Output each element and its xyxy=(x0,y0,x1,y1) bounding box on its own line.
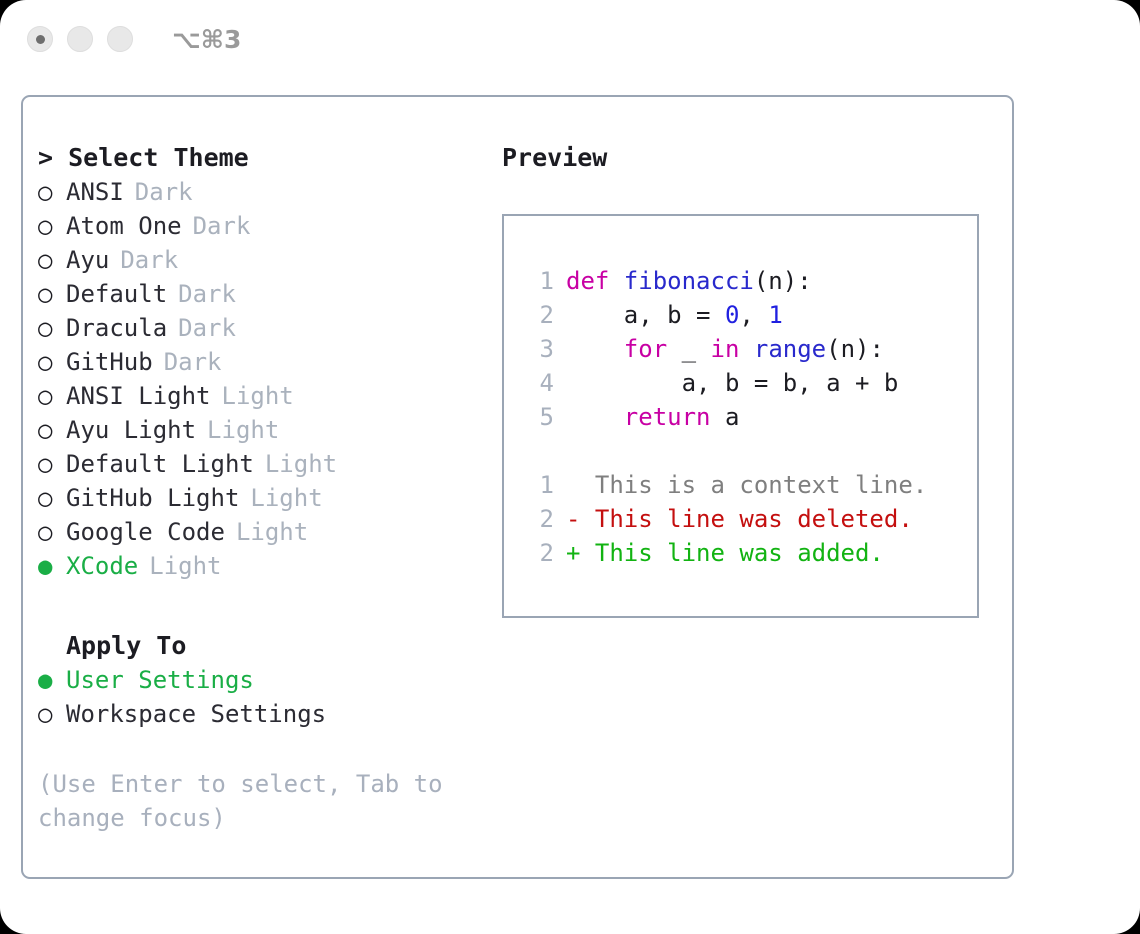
code-token: _ xyxy=(667,335,710,363)
diff-line: 2+ This line was added. xyxy=(520,536,977,570)
code-line-number: 1 xyxy=(520,264,554,298)
dialog-panel: > Select Theme ○ANSIDark○Atom OneDark○Ay… xyxy=(21,95,1014,879)
app-window: ⌥⌘3 > Select Theme ○ANSIDark○Atom OneDar… xyxy=(0,0,1140,934)
code-token: a, b = b, a + b xyxy=(566,369,898,397)
radio-unselected-icon: ○ xyxy=(38,243,66,277)
radio-unselected-icon: ○ xyxy=(38,345,66,379)
theme-variant-tag: Dark xyxy=(164,345,222,379)
theme-name: GitHub Light xyxy=(66,481,239,515)
code-line: 2 a, b = 0, 1 xyxy=(520,298,977,332)
code-sample: 1def fibonacci(n):2 a, b = 0, 13 for _ i… xyxy=(520,264,977,434)
theme-variant-tag: Dark xyxy=(120,243,178,277)
code-line-content: def fibonacci(n): xyxy=(566,264,812,298)
preview-spacer xyxy=(520,434,977,468)
theme-variant-tag: Light xyxy=(149,549,221,583)
title-bar: ⌥⌘3 xyxy=(0,0,1140,78)
theme-list-item[interactable]: ●XCodeLight xyxy=(38,549,478,583)
code-token: (n): xyxy=(826,335,884,363)
code-line: 1def fibonacci(n): xyxy=(520,264,977,298)
code-line-content: for _ in range(n): xyxy=(566,332,884,366)
select-theme-heading: > Select Theme xyxy=(38,141,478,175)
theme-list-item[interactable]: ○DefaultDark xyxy=(38,277,478,311)
theme-name: XCode xyxy=(66,549,138,583)
code-token xyxy=(566,335,624,363)
code-token: in xyxy=(711,335,740,363)
code-line-number: 3 xyxy=(520,332,554,366)
radio-unselected-icon: ○ xyxy=(38,175,66,209)
code-token xyxy=(566,403,624,431)
code-token: 0 xyxy=(725,301,739,329)
theme-name: Atom One xyxy=(66,209,182,243)
radio-selected-icon: ● xyxy=(38,549,66,583)
theme-list-item[interactable]: ○DraculaDark xyxy=(38,311,478,345)
radio-unselected-icon: ○ xyxy=(38,447,66,481)
theme-name: Default Light xyxy=(66,447,254,481)
apply-to-label: Workspace Settings xyxy=(66,697,326,731)
theme-variant-tag: Light xyxy=(222,379,294,413)
code-line-content: a, b = 0, 1 xyxy=(566,298,783,332)
code-line-number: 4 xyxy=(520,366,554,400)
code-token xyxy=(739,335,753,363)
code-token: for xyxy=(624,335,667,363)
theme-variant-tag: Light xyxy=(236,515,308,549)
theme-list-item[interactable]: ○Default LightLight xyxy=(38,447,478,481)
theme-list-item[interactable]: ○GitHub LightLight xyxy=(38,481,478,515)
diff-line: 1 This is a context line. xyxy=(520,468,977,502)
apply-to-section: Apply To ●User Settings○Workspace Settin… xyxy=(38,629,478,731)
theme-name: Ayu Light xyxy=(66,413,196,447)
diff-line-number: 1 xyxy=(520,468,554,502)
theme-list-item[interactable]: ○ANSIDark xyxy=(38,175,478,209)
preview-box: 1def fibonacci(n):2 a, b = 0, 13 for _ i… xyxy=(502,214,979,618)
code-token: , xyxy=(739,301,768,329)
theme-list-item[interactable]: ○ANSI LightLight xyxy=(38,379,478,413)
theme-list-item[interactable]: ○Ayu LightLight xyxy=(38,413,478,447)
keyboard-shortcut-label: ⌥⌘3 xyxy=(172,25,241,54)
theme-name: ANSI Light xyxy=(66,379,211,413)
radio-unselected-icon: ○ xyxy=(38,209,66,243)
theme-list: ○ANSIDark○Atom OneDark○AyuDark○DefaultDa… xyxy=(38,175,478,583)
keyboard-hint-text: (Use Enter to select, Tab to change focu… xyxy=(38,767,448,835)
code-line-content: a, b = b, a + b xyxy=(566,366,898,400)
theme-name: Default xyxy=(66,277,167,311)
diff-line-content: - This line was deleted. xyxy=(566,502,913,536)
radio-unselected-icon: ○ xyxy=(38,515,66,549)
theme-name: GitHub xyxy=(66,345,153,379)
diff-line-content: + This line was added. xyxy=(566,536,884,570)
theme-list-item[interactable]: ○Atom OneDark xyxy=(38,209,478,243)
apply-to-label: User Settings xyxy=(66,663,254,697)
theme-variant-tag: Dark xyxy=(178,277,236,311)
radio-unselected-icon: ○ xyxy=(38,413,66,447)
diff-line-number: 2 xyxy=(520,502,554,536)
theme-name: Ayu xyxy=(66,243,109,277)
radio-selected-icon: ● xyxy=(38,663,66,697)
theme-selection-column: > Select Theme ○ANSIDark○Atom OneDark○Ay… xyxy=(38,141,478,835)
theme-variant-tag: Light xyxy=(265,447,337,481)
diff-sample: 1 This is a context line.2- This line wa… xyxy=(520,468,977,570)
theme-list-item[interactable]: ○AyuDark xyxy=(38,243,478,277)
window-dot-active-center xyxy=(36,35,45,44)
code-token: (n): xyxy=(754,267,812,295)
code-line: 4 a, b = b, a + b xyxy=(520,366,977,400)
code-line: 3 for _ in range(n): xyxy=(520,332,977,366)
theme-list-item[interactable]: ○Google CodeLight xyxy=(38,515,478,549)
code-token: a xyxy=(711,403,740,431)
code-token: a, b = xyxy=(566,301,725,329)
apply-to-item[interactable]: ●User Settings xyxy=(38,663,478,697)
radio-unselected-icon: ○ xyxy=(38,277,66,311)
code-token: fibonacci xyxy=(624,267,754,295)
apply-to-heading: Apply To xyxy=(38,629,478,663)
diff-line-content: This is a context line. xyxy=(566,468,927,502)
radio-unselected-icon: ○ xyxy=(38,311,66,345)
preview-column: Preview 1def fibonacci(n):2 a, b = 0, 13… xyxy=(502,141,992,618)
theme-variant-tag: Dark xyxy=(178,311,236,345)
apply-to-list: ●User Settings○Workspace Settings xyxy=(38,663,478,731)
window-dot-second[interactable] xyxy=(67,26,93,52)
theme-variant-tag: Dark xyxy=(193,209,251,243)
radio-unselected-icon: ○ xyxy=(38,481,66,515)
code-token: 1 xyxy=(768,301,782,329)
window-dot-active[interactable] xyxy=(27,26,53,52)
theme-variant-tag: Light xyxy=(250,481,322,515)
code-token: range xyxy=(754,335,826,363)
theme-name: ANSI xyxy=(66,175,124,209)
code-line: 5 return a xyxy=(520,400,977,434)
radio-unselected-icon: ○ xyxy=(38,379,66,413)
apply-to-item[interactable]: ○Workspace Settings xyxy=(38,697,478,731)
code-token: def xyxy=(566,267,624,295)
window-dot-third[interactable] xyxy=(107,26,133,52)
theme-name: Dracula xyxy=(66,311,167,345)
theme-list-item[interactable]: ○GitHubDark xyxy=(38,345,478,379)
code-line-content: return a xyxy=(566,400,739,434)
preview-heading: Preview xyxy=(502,141,992,175)
diff-line: 2- This line was deleted. xyxy=(520,502,977,536)
code-line-number: 5 xyxy=(520,400,554,434)
code-token: return xyxy=(624,403,711,431)
theme-variant-tag: Dark xyxy=(135,175,193,209)
radio-unselected-icon: ○ xyxy=(38,697,66,731)
code-line-number: 2 xyxy=(520,298,554,332)
theme-name: Google Code xyxy=(66,515,225,549)
theme-variant-tag: Light xyxy=(207,413,279,447)
diff-line-number: 2 xyxy=(520,536,554,570)
